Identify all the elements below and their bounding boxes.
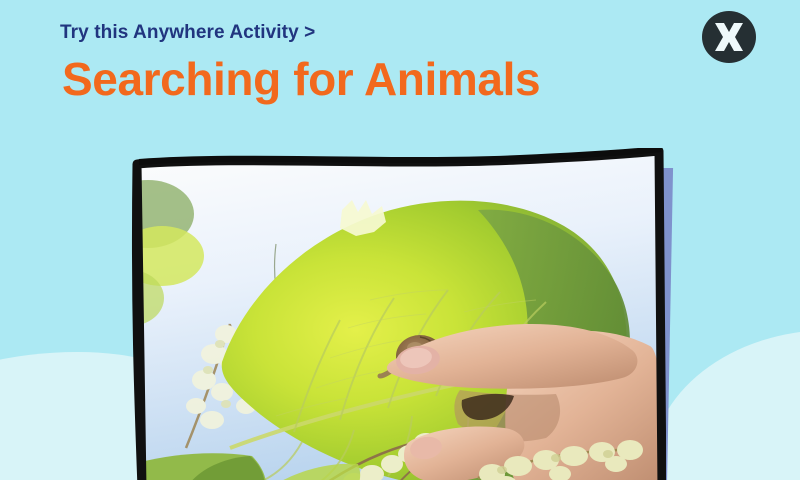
- leaf-with-snail-photo: [126, 148, 666, 480]
- close-button[interactable]: [702, 11, 756, 63]
- activity-eyebrow-label: Try this Anywhere Activity >: [60, 22, 315, 44]
- page-title: Searching for Animals: [62, 52, 540, 106]
- background-arc-right: [650, 330, 800, 480]
- close-x-icon: [702, 11, 756, 63]
- activity-screen: Try this Anywhere Activity > Searching f…: [0, 0, 800, 480]
